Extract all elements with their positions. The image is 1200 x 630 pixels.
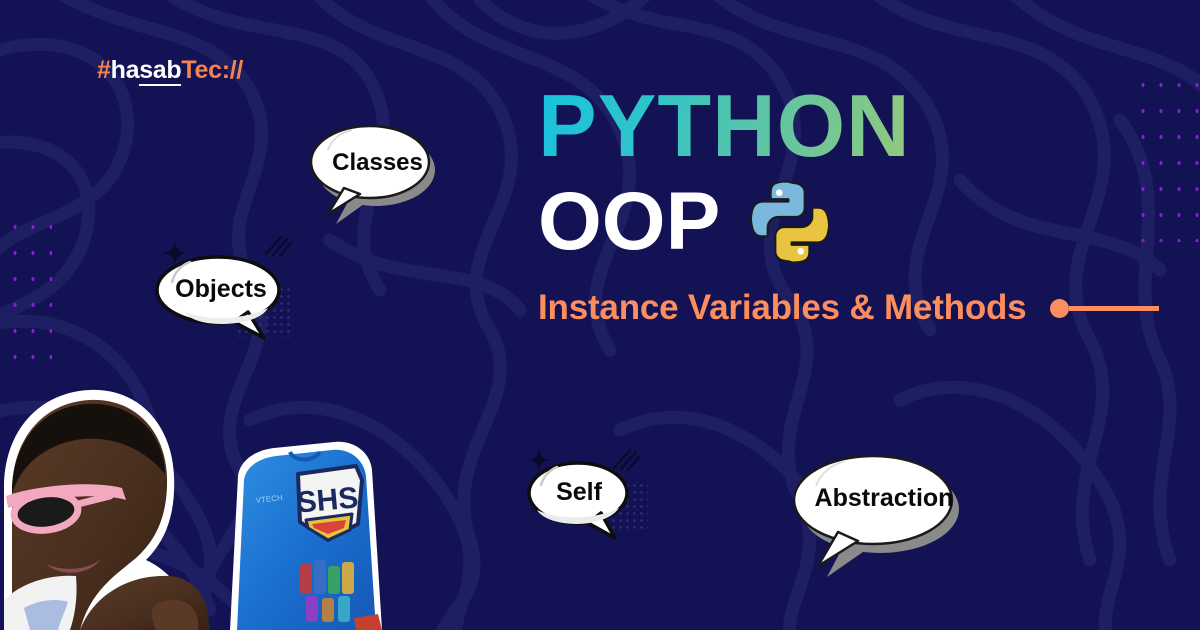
brand-logo[interactable]: #hasabTec:// [97,56,243,85]
speech-bubble-objects[interactable]: Objects [152,252,292,350]
banner-canvas: #hasabTec:// PYTHON OOP Instance Variabl… [0,0,1200,630]
logo-name-1: ha [111,56,140,84]
speech-bubble-classes[interactable]: Classes [308,120,453,225]
speech-bubble-abstraction[interactable]: Abstraction [790,450,982,580]
subject-row: OOP [538,176,1159,268]
logo-name-3: Tec:// [181,56,243,84]
logo-hash: # [97,56,111,84]
accent-line [1069,306,1159,311]
person-photo: VTECH SHS [0,368,414,630]
subject-title: OOP [538,181,720,263]
subtitle-row: Instance Variables & Methods [538,288,1159,328]
logo-name-2: sab [139,56,181,86]
dot-grid-left [6,214,52,374]
speech-bubble-self[interactable]: Self [525,458,637,548]
accent-dot [1050,299,1069,318]
bubble-label-objects: Objects [152,275,292,304]
page-title: PYTHON [538,82,1159,170]
headline-block: PYTHON OOP Instance Variables & Methods [538,82,1159,328]
python-logo-icon [744,176,836,268]
bubble-label-abstraction: Abstraction [790,484,982,513]
subtitle: Instance Variables & Methods [538,288,1026,328]
bubble-label-self: Self [525,478,637,507]
bubble-label-classes: Classes [308,149,453,177]
